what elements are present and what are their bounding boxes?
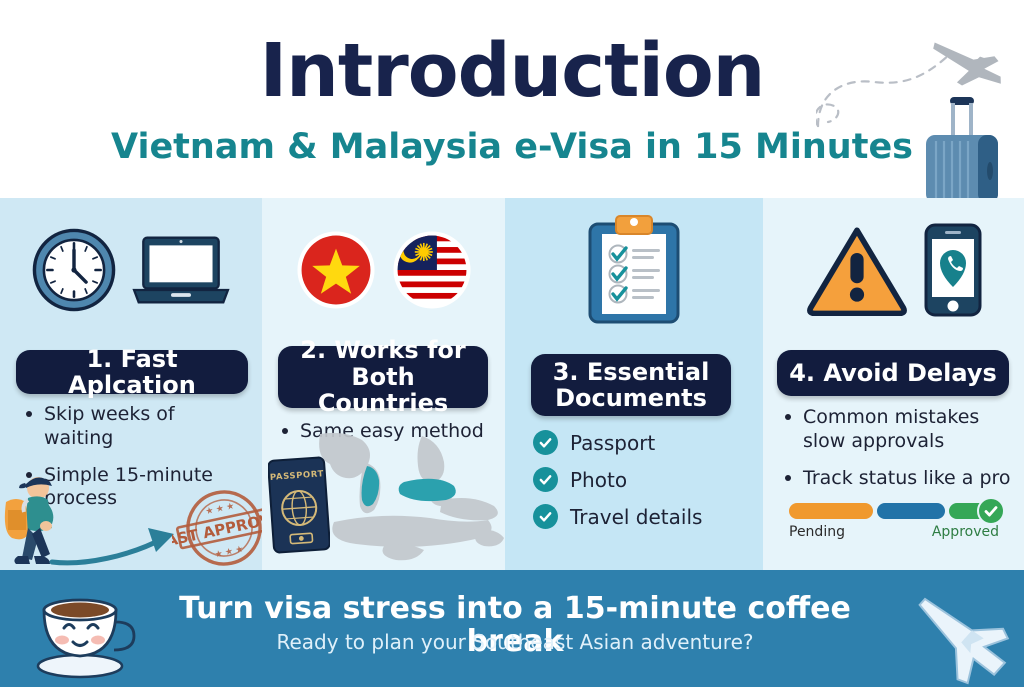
passport-icon: PASSPORT <box>268 456 330 554</box>
status-progress-bar: Pending Approved <box>789 502 1001 540</box>
progress-label-pending: Pending <box>789 524 845 540</box>
svg-text:★ ★ ★: ★ ★ ★ <box>205 501 236 517</box>
progress-track <box>789 502 1001 520</box>
coffee-cup-icon <box>26 582 138 680</box>
infographic-canvas: Introduction Vietnam & Malaysia e-Visa i… <box>0 0 1024 687</box>
checklist-label: Travel details <box>570 505 702 529</box>
approved-check-icon <box>977 497 1005 525</box>
header-section: Introduction Vietnam & Malaysia e-Visa i… <box>0 0 1024 198</box>
curved-arrow-icon <box>48 520 188 568</box>
vietnam-flag-icon <box>295 229 377 311</box>
step-card-4: 4. Avoid Delays Common mistakes slow app… <box>763 198 1024 570</box>
step-card-2: 2. Works for Both Countries Same easy me… <box>262 198 505 570</box>
footer-section: Turn visa stress into a 15-minute coffee… <box>0 570 1024 687</box>
bullet-item: Common mistakes slow approvals <box>785 406 1014 454</box>
step-4-bullets: Common mistakes slow approvals Track sta… <box>763 406 1024 503</box>
step-3-icons <box>505 214 763 326</box>
laptop-icon <box>131 232 231 308</box>
checklist-item: Photo <box>533 467 702 492</box>
step-3-badge: 3. Essential Documents <box>531 354 731 416</box>
progress-label-approved: Approved <box>932 524 999 540</box>
bullet-item: Skip weeks of waiting <box>26 403 248 451</box>
bullet-item: Track status like a pro <box>785 467 1014 491</box>
clock-icon <box>31 227 117 313</box>
step-card-3: 3. Essential Documents Passport Photo <box>505 198 763 570</box>
progress-segment-review <box>877 503 945 519</box>
check-icon <box>533 467 558 492</box>
phone-tracking-icon <box>923 222 983 318</box>
checklist-item: Passport <box>533 430 702 455</box>
checklist-label: Passport <box>570 431 655 455</box>
clipboard-checklist-icon <box>582 214 686 326</box>
warning-triangle-icon <box>805 224 909 316</box>
step-card-1: 1. Fast Aplcation Skip weeks of waiting … <box>0 198 262 570</box>
svg-text:★ ★ ★: ★ ★ ★ <box>214 544 245 560</box>
step-1-icons <box>0 214 262 326</box>
steps-row: 1. Fast Aplcation Skip weeks of waiting … <box>0 198 1024 570</box>
step-2-badge: 2. Works for Both Countries <box>278 346 488 408</box>
progress-segment-pending <box>789 503 873 519</box>
fast-approval-stamp-icon: FAST APPROVAL ★ ★ ★ ★ ★ ★ <box>172 486 262 570</box>
check-icon <box>533 430 558 455</box>
step-4-badge: 4. Avoid Delays <box>777 350 1009 396</box>
step-4-icons <box>763 214 1024 326</box>
checklist-item: Travel details <box>533 504 702 529</box>
step-3-checklist: Passport Photo Travel details <box>533 430 702 541</box>
footer-subtext: Ready to plan your Southeast Asian adven… <box>130 630 900 654</box>
step-1-badge: 1. Fast Aplcation <box>16 350 248 394</box>
malaysia-flag-icon <box>391 229 473 311</box>
check-icon <box>533 504 558 529</box>
progress-labels: Pending Approved <box>789 524 1001 540</box>
footer-airplane-icon <box>900 582 1016 686</box>
checklist-label: Photo <box>570 468 627 492</box>
suitcase-icon <box>920 95 1004 203</box>
step-2-icons <box>262 214 505 326</box>
